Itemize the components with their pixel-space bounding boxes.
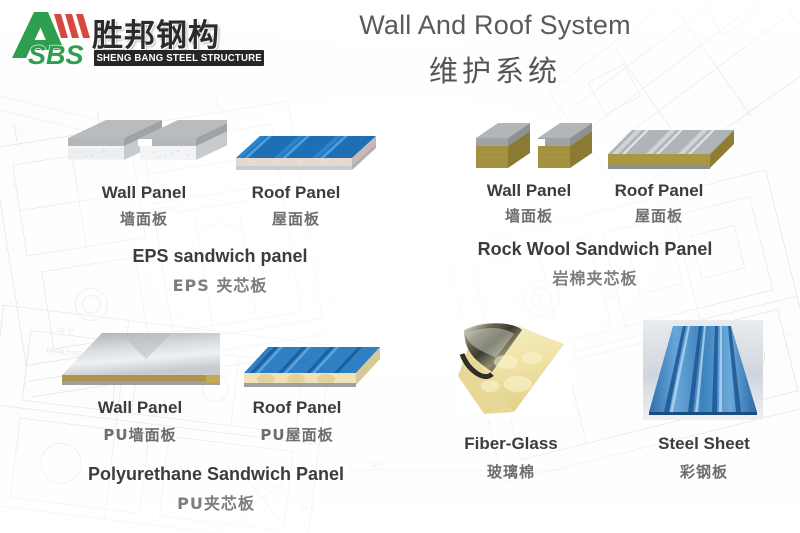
svg-text:10-3: 10-3 (300, 505, 314, 512)
slide-canvas: GARAGE FAMILY ROOM 18'-0" A-2 C80G Q-2 1… (0, 0, 800, 533)
steelsheet-label-en: Steel Sheet (658, 434, 750, 454)
eps-roof-label-cn: 屋面板 (272, 208, 320, 229)
eps-wall-label-en: Wall Panel (102, 183, 186, 203)
logo-chinese-name: 胜邦钢构 (92, 10, 267, 50)
rockwool-group-title-cn: 岩棉夹芯板 (552, 265, 637, 289)
eps-wall-label-cn: 墙面板 (120, 208, 168, 229)
eps-group-title-cn: EPS 夹芯板 (173, 272, 268, 296)
eps-roof-label-en: Roof Panel (252, 183, 341, 203)
pu-roof-label-cn: PU屋面板 (260, 424, 333, 445)
pu-wall-label-en: Wall Panel (98, 398, 182, 418)
rockwool-group-title-en: Rock Wool Sandwich Panel (478, 239, 713, 260)
company-logo: SBS 胜邦钢构 SHENG BANG STEEL STRUCTURE (8, 6, 268, 72)
rockwool-roof-panel-image (602, 116, 740, 182)
rockwool-wall-label-cn: 墙面板 (505, 205, 553, 226)
pu-group-title-en: Polyurethane Sandwich Panel (88, 464, 344, 485)
eps-wall-panel-image (62, 112, 227, 180)
svg-text:SBS: SBS (28, 40, 84, 68)
fiberglass-label-cn: 玻璃棉 (487, 461, 535, 482)
page-title-english: Wall And Roof System (330, 10, 660, 41)
pu-roof-panel-image (238, 327, 386, 397)
rockwool-roof-label-en: Roof Panel (615, 181, 704, 201)
pu-group-title-cn: PU夹芯板 (177, 490, 255, 514)
steel-sheet-image (643, 320, 763, 420)
eps-group-title-en: EPS sandwich panel (132, 246, 307, 267)
svg-text:Q-2: Q-2 (372, 461, 384, 468)
rockwool-wall-label-en: Wall Panel (487, 181, 571, 201)
rockwool-roof-label-cn: 屋面板 (635, 205, 683, 226)
svg-text:A-2: A-2 (605, 292, 617, 301)
page-title-chinese: 维护系统 (330, 48, 660, 90)
eps-roof-panel-image (232, 118, 380, 180)
logo-english-name: SHENG BANG STEEL STRUCTURE (94, 50, 264, 66)
pu-roof-label-en: Roof Panel (253, 398, 342, 418)
steelsheet-label-cn: 彩钢板 (680, 461, 728, 482)
sbs-triangle-logo-icon: SBS (8, 8, 96, 68)
rockwool-wall-panel-image (472, 116, 602, 182)
fiber-glass-roll-image (456, 320, 572, 418)
pu-wall-label-cn: PU墙面板 (103, 424, 176, 445)
fiberglass-label-en: Fiber-Glass (464, 434, 558, 454)
pu-wall-panel-image (60, 325, 240, 397)
